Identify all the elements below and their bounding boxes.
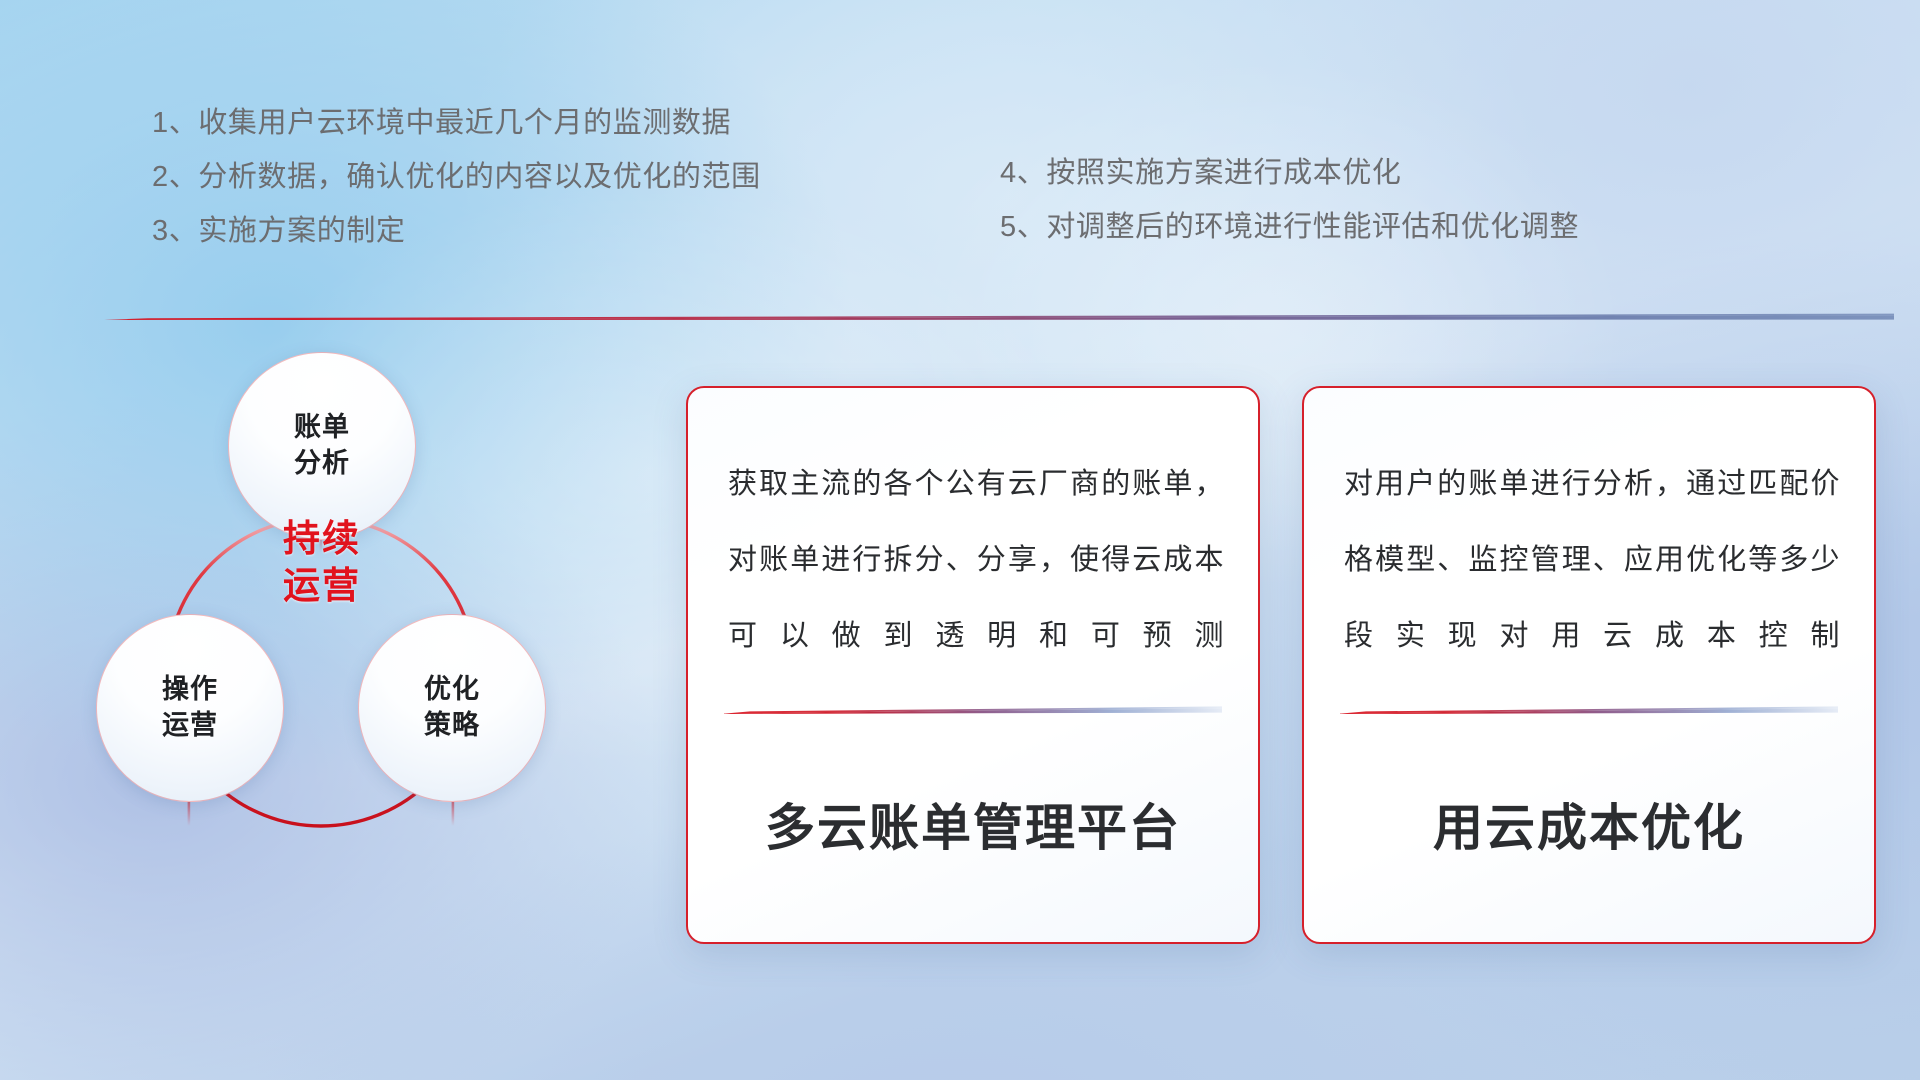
card-title: 多云账单管理平台 [688, 788, 1258, 860]
center-label-line1: 持续 [224, 515, 420, 562]
header-divider [104, 311, 1894, 320]
step-item-3: 3、实施方案的制定 [152, 204, 761, 258]
step-item-4: 4、按照实施方案进行成本优化 [1000, 146, 1579, 200]
node-label-line2: 策略 [424, 708, 480, 744]
node-label-line1: 操作 [162, 672, 218, 708]
card-accent-rule [724, 706, 1222, 714]
card-body-text: 对用户的账单进行分析，通过匹配价格模型、监控管理、应用优化等多少段实现对用云成本… [1344, 446, 1840, 674]
node-label-line1: 优化 [424, 672, 480, 708]
diagram-node-optimization-strategy[interactable]: 优化 策略 [358, 614, 546, 802]
continuous-operation-diagram: 账单 分析 操作 运营 优化 策略 持续 运营 [96, 352, 656, 952]
info-card-multicloud-billing[interactable]: 获取主流的各个公有云厂商的账单，对账单进行拆分、分享，使得云成本可以做到透明和可… [686, 386, 1260, 944]
diagram-node-bill-analysis[interactable]: 账单 分析 [228, 352, 416, 540]
node-label-line2: 分析 [294, 446, 350, 482]
step-item-2: 2、分析数据，确认优化的内容以及优化的范围 [152, 150, 761, 204]
card-accent-rule [1340, 706, 1838, 714]
diagram-center-label: 持续 运营 [224, 515, 420, 610]
node-label-line1: 账单 [294, 410, 350, 446]
card-body-text: 获取主流的各个公有云厂商的账单，对账单进行拆分、分享，使得云成本可以做到透明和可… [728, 446, 1224, 674]
steps-column-right: 4、按照实施方案进行成本优化 5、对调整后的环境进行性能评估和优化调整 [1000, 146, 1579, 254]
steps-column-left: 1、收集用户云环境中最近几个月的监测数据 2、分析数据，确认优化的内容以及优化的… [152, 96, 761, 258]
step-item-5: 5、对调整后的环境进行性能评估和优化调整 [1000, 200, 1579, 254]
card-title: 用云成本优化 [1304, 788, 1874, 860]
step-item-1: 1、收集用户云环境中最近几个月的监测数据 [152, 96, 761, 150]
info-card-cloud-cost-optimization[interactable]: 对用户的账单进行分析，通过匹配价格模型、监控管理、应用优化等多少段实现对用云成本… [1302, 386, 1876, 944]
center-label-line2: 运营 [224, 562, 420, 609]
diagram-node-operations[interactable]: 操作 运营 [96, 614, 284, 802]
header-steps-region: 1、收集用户云环境中最近几个月的监测数据 2、分析数据，确认优化的内容以及优化的… [0, 96, 1920, 286]
node-label-line2: 运营 [162, 708, 218, 744]
